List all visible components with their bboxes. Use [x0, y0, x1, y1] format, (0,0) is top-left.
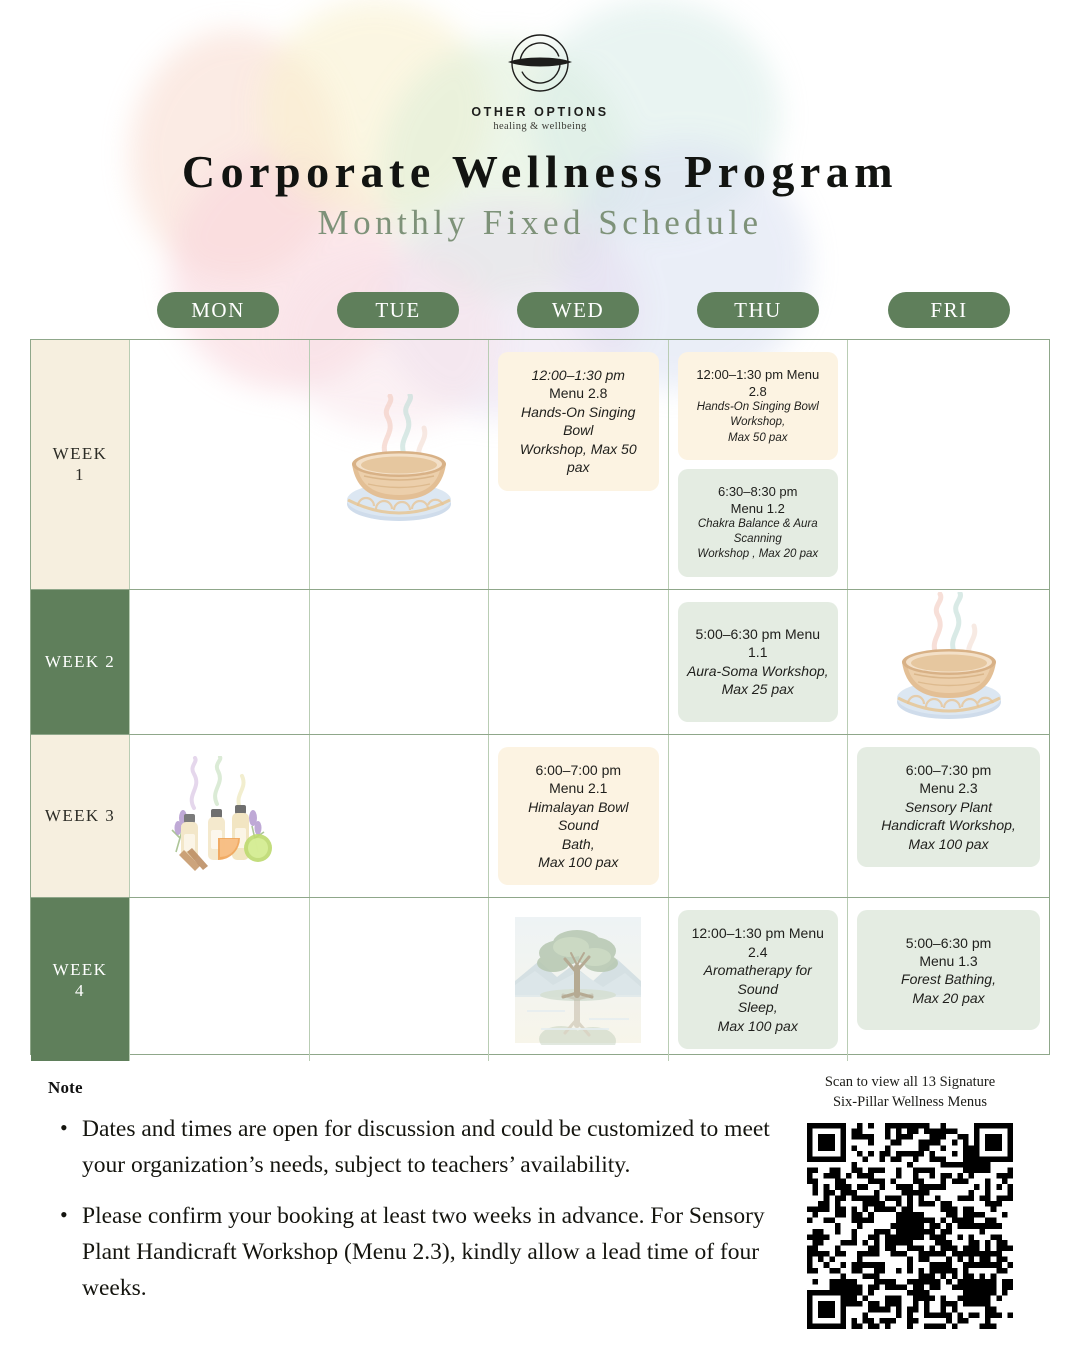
week-label-4: WEEK 4	[31, 898, 129, 1061]
cell-week3-thu[interactable]	[668, 735, 848, 898]
session-card[interactable]: 6:30–8:30 pmMenu 1.2Chakra Balance & Aur…	[678, 469, 839, 577]
singing-bowl-illustration-icon	[848, 590, 1049, 734]
session-line: Aromatherapy for Sound	[687, 961, 830, 998]
cell-week1-tue[interactable]	[309, 340, 489, 589]
session-card[interactable]: 6:00–7:00 pmMenu 2.1Himalayan Bowl Sound…	[498, 747, 659, 886]
cell-week2-wed[interactable]	[488, 590, 668, 734]
session-line: Max 100 pax	[866, 835, 1031, 853]
week-row: WEEK 3	[31, 735, 1049, 899]
session-line: 5:00–6:30 pm	[866, 934, 1031, 952]
cell-week1-wed[interactable]: 12:00–1:30 pmMenu 2.8Hands-On Singing Bo…	[488, 340, 668, 589]
qr-section: Scan to view all 13 Signature Six-Pillar…	[790, 1072, 1030, 1329]
cell-week1-thu[interactable]: 12:00–1:30 pm Menu 2.8Hands-On Singing B…	[668, 340, 848, 589]
cell-week3-tue[interactable]	[309, 735, 489, 898]
session-line: 5:00–6:30 pm Menu 1.1	[687, 625, 830, 662]
cell-week4-fri[interactable]: 5:00–6:30 pmMenu 1.3Forest Bathing,Max 2…	[847, 898, 1049, 1061]
week-label-2: WEEK 2	[31, 590, 129, 734]
page-subtitle: Monthly Fixed Schedule	[0, 203, 1080, 243]
qr-caption-line-1: Scan to view all 13 Signature	[825, 1074, 995, 1090]
day-header-mon: MON	[157, 292, 279, 328]
cell-week4-tue[interactable]	[309, 898, 489, 1061]
session-card[interactable]: 12:00–1:30 pm Menu 2.4Aromatherapy for S…	[678, 910, 839, 1049]
qr-caption-line-2: Six-Pillar Wellness Menus	[833, 1094, 987, 1110]
session-line: Aura-Soma Workshop,	[687, 662, 830, 680]
session-card[interactable]: 12:00–1:30 pm Menu 2.8Hands-On Singing B…	[678, 352, 839, 460]
brand-logo: OTHER OPTIONS healing & wellbeing	[0, 32, 1080, 132]
page-title: Corporate Wellness Program	[0, 145, 1080, 198]
essential-oil-bottles-illustration-icon	[130, 735, 309, 898]
session-line: Max 100 pax	[507, 853, 650, 871]
qr-code-icon[interactable]	[807, 1123, 1013, 1329]
session-card[interactable]: 5:00–6:30 pmMenu 1.3Forest Bathing,Max 2…	[857, 910, 1040, 1030]
note-item: Dates and times are open for discussion …	[48, 1112, 788, 1183]
schedule-grid: WEEK 1 12:00–1:30 pmMenu 2.8Hands-On Sin…	[30, 339, 1050, 1055]
session-line: Sensory Plant	[866, 798, 1031, 816]
session-line: Menu 1.2	[687, 500, 830, 517]
tree-reflection-illustration-icon	[489, 898, 668, 1061]
day-header-wed: WED	[517, 292, 639, 328]
week-label-3: WEEK 3	[31, 735, 129, 898]
session-card[interactable]: 12:00–1:30 pmMenu 2.8Hands-On Singing Bo…	[498, 352, 659, 491]
cell-week1-fri[interactable]	[847, 340, 1049, 589]
note-heading: Note	[48, 1078, 788, 1098]
session-card[interactable]: 6:00–7:30 pmMenu 2.3Sensory PlantHandicr…	[857, 747, 1040, 867]
note-section: Note Dates and times are open for discus…	[48, 1078, 788, 1323]
day-header-row: MON TUE WED THU FRI	[128, 292, 1050, 328]
day-header-fri: FRI	[888, 292, 1010, 328]
session-line: Menu 1.3	[866, 952, 1031, 970]
session-line: Max 20 pax	[866, 989, 1031, 1007]
session-line: Workshop , Max 20 pax	[687, 547, 830, 562]
cell-week2-thu[interactable]: 5:00–6:30 pm Menu 1.1Aura-Soma Workshop,…	[668, 590, 848, 734]
day-header-tue: TUE	[337, 292, 459, 328]
week-row: WEEK 1 12:00–1:30 pmMenu 2.8Hands-On Sin…	[31, 340, 1049, 590]
session-line: 6:00–7:00 pm	[507, 761, 650, 779]
note-item: Please confirm your booking at least two…	[48, 1199, 788, 1306]
cell-week2-mon[interactable]	[129, 590, 309, 734]
session-card[interactable]: 5:00–6:30 pm Menu 1.1Aura-Soma Workshop,…	[678, 602, 839, 722]
cell-week3-fri[interactable]: 6:00–7:30 pmMenu 2.3Sensory PlantHandicr…	[847, 735, 1049, 898]
singing-bowl-illustration-icon	[310, 340, 489, 589]
session-line: Forest Bathing,	[866, 970, 1031, 988]
cell-week4-mon[interactable]	[129, 898, 309, 1061]
session-line: Workshop, Max 50 pax	[507, 440, 650, 477]
session-line: Menu 2.1	[507, 779, 650, 797]
brand-tagline: healing & wellbeing	[493, 121, 586, 132]
session-line: Bath,	[507, 835, 650, 853]
session-line: Himalayan Bowl Sound	[507, 798, 650, 835]
week-row: WEEK 4	[31, 898, 1049, 1061]
session-line: 12:00–1:30 pm Menu 2.8	[687, 366, 830, 400]
session-line: Max 50 pax	[687, 431, 830, 446]
session-line: 6:00–7:30 pm	[866, 761, 1031, 779]
cell-week2-fri[interactable]	[847, 590, 1049, 734]
session-line: Hands-On Singing Bowl	[507, 403, 650, 440]
session-line: 6:30–8:30 pm	[687, 483, 830, 500]
cell-week1-mon[interactable]	[129, 340, 309, 589]
cell-week3-mon[interactable]	[129, 735, 309, 898]
session-line: 12:00–1:30 pm	[507, 366, 650, 384]
session-line: 12:00–1:30 pm Menu 2.4	[687, 924, 830, 961]
concentric-circle-horizon-logo-icon	[507, 32, 573, 98]
session-line: Menu 2.8	[507, 384, 650, 402]
session-line: Max 25 pax	[687, 680, 830, 698]
cell-week2-tue[interactable]	[309, 590, 489, 734]
session-line: Hands-On Singing Bowl Workshop,	[687, 400, 830, 430]
session-line: Max 100 pax	[687, 1017, 830, 1035]
session-line: Sleep,	[687, 998, 830, 1016]
cell-week4-thu[interactable]: 12:00–1:30 pm Menu 2.4Aromatherapy for S…	[668, 898, 848, 1061]
cell-week3-wed[interactable]: 6:00–7:00 pmMenu 2.1Himalayan Bowl Sound…	[488, 735, 668, 898]
brand-name: OTHER OPTIONS	[471, 105, 608, 119]
note-list: Dates and times are open for discussion …	[48, 1112, 788, 1307]
session-line: Chakra Balance & Aura Scanning	[687, 517, 830, 547]
week-label-1: WEEK 1	[31, 340, 129, 589]
week-row: WEEK 25:00–6:30 pm Menu 1.1Aura-Soma Wor…	[31, 590, 1049, 735]
day-header-thu: THU	[697, 292, 819, 328]
session-line: Handicraft Workshop,	[866, 816, 1031, 834]
cell-week4-wed[interactable]	[488, 898, 668, 1061]
session-line: Menu 2.3	[866, 779, 1031, 797]
